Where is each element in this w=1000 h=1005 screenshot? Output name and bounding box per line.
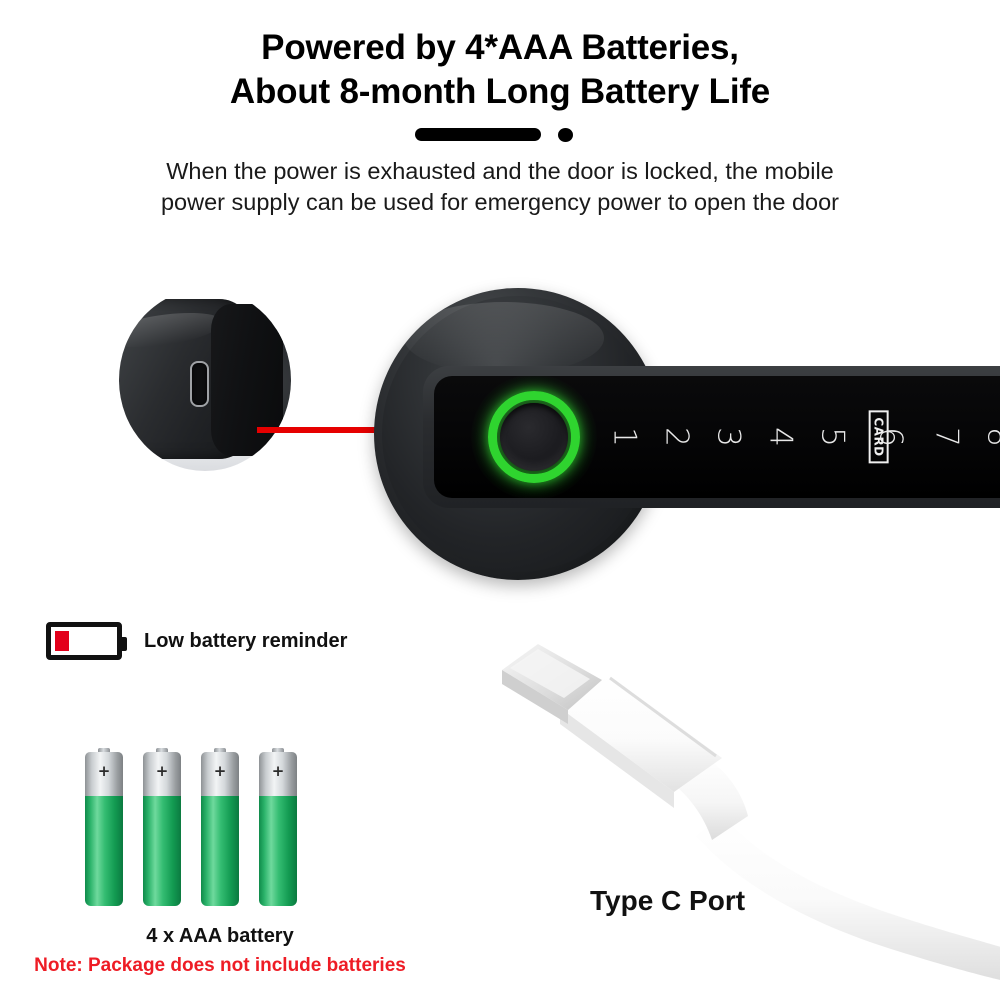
divider-dot [558,128,573,142]
battery-note: Note: Package does not include batteries [0,955,440,977]
header: Powered by 4*AAA Batteries, About 8-mont… [0,0,1000,218]
type-c-cable-image [490,630,1000,1000]
low-battery-reminder: Low battery reminder [46,622,347,660]
aaa-battery-3: + [201,748,239,906]
aaa-battery-group: + + + + [85,748,305,913]
keypad-key-2[interactable]: 2 [660,427,691,447]
battery-plus-symbol: + [85,764,123,779]
battery-plus-symbol: + [259,764,297,779]
low-battery-fill [55,631,69,651]
battery-caption: 4 x AAA battery [0,925,440,948]
aaa-battery-2: + [143,748,181,906]
battery-body [259,796,297,906]
low-battery-label: Low battery reminder [144,630,347,653]
divider-bar [415,128,541,141]
usb-c-magnifier-circle [119,289,291,471]
battery-plus-symbol: + [201,764,239,779]
subtitle: When the power is exhausted and the door… [85,156,915,219]
usb-c-port-icon [190,361,209,407]
subtitle-line-1: When the power is exhausted and the door… [85,156,915,187]
keypad-key-5[interactable]: 5 [816,427,847,447]
type-c-port-label: Type C Port [590,885,745,917]
battery-body [201,796,239,906]
magnifier-lock-face [211,304,283,456]
keypad-key-3[interactable]: 3 [712,427,743,447]
aaa-battery-4: + [259,748,297,906]
keypad-key-8[interactable]: 8 [982,427,1000,447]
keypad-keys: 1 2 3 4 5 CARD 6 7 8 [610,376,1000,498]
magnifier-body-highlight [119,307,225,353]
keypad-key-6[interactable]: 6 [874,427,905,447]
title-line-1: Powered by 4*AAA Batteries, [0,26,1000,70]
keypad-key-1[interactable]: 1 [608,427,639,447]
title-line-2: About 8-month Long Battery Life [0,70,1000,114]
battery-body [85,796,123,906]
low-battery-icon [46,622,122,660]
fingerprint-sensor[interactable] [500,403,568,471]
battery-body [143,796,181,906]
battery-plus-symbol: + [143,764,181,779]
title-divider [415,126,585,142]
keypad-key-7[interactable]: 7 [930,427,961,447]
keypad-panel: 1 2 3 4 5 CARD 6 7 8 [434,376,1000,498]
aaa-battery-1: + [85,748,123,906]
page-title: Powered by 4*AAA Batteries, About 8-mont… [0,0,1000,115]
keypad-key-4[interactable]: 4 [764,427,795,447]
lock-body-gloss [404,302,604,374]
subtitle-line-2: power supply can be used for emergency p… [85,187,915,218]
cable-svg [490,630,1000,1000]
